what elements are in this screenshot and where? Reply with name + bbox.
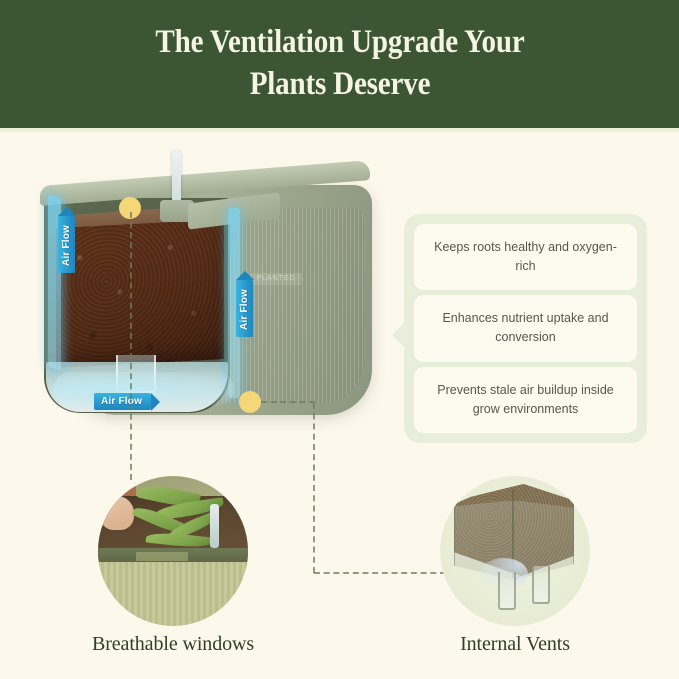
airflow-label-middle: Air Flow: [236, 280, 253, 337]
airflow-label-left-text: Air Flow: [58, 216, 75, 273]
header-banner: The Ventilation Upgrade Your Plants Dese…: [0, 0, 679, 128]
soil-cross-section: [56, 219, 224, 368]
inset-left-planter-body: [98, 562, 248, 626]
inset-photo-breathable-windows: [98, 476, 248, 626]
connector-line-breathable-windows: [130, 212, 132, 480]
inset-caption-breathable-windows: Breathable windows: [43, 633, 303, 656]
planter-brand-logo: PLANTED: [250, 273, 302, 285]
internal-vent-leg: [498, 572, 516, 610]
connector-line-vents-horizontal-bottom: [314, 572, 446, 574]
connector-line-vents-vertical: [313, 403, 315, 573]
connector-line-vents-horizontal-top: [261, 401, 315, 403]
product-cutaway-illustration: PLANTED Air Flow Air Flow Air Flow: [20, 150, 400, 450]
airflow-label-middle-text: Air Flow: [236, 280, 253, 337]
inset-left-terracotta-pot: [100, 496, 134, 530]
benefits-panel: Keeps roots healthy and oxygen-rich Enha…: [404, 214, 647, 443]
airflow-label-left: Air Flow: [58, 216, 75, 273]
benefit-card-3: Prevents stale air buildup inside grow e…: [414, 367, 637, 433]
airflow-label-bottom: Air Flow: [94, 393, 151, 410]
header-underline: [0, 128, 679, 132]
benefit-card-2: Enhances nutrient uptake and conversion: [414, 295, 637, 361]
infographic-page: The Ventilation Upgrade Your Plants Dese…: [0, 0, 679, 679]
inset-caption-internal-vents: Internal Vents: [385, 633, 645, 656]
inset-left-water-gauge: [210, 504, 219, 548]
benefit-card-1: Keeps roots healthy and oxygen-rich: [414, 224, 637, 290]
airflow-label-bottom-text: Air Flow: [94, 393, 151, 410]
inset-photo-internal-vents: [440, 476, 590, 626]
internal-vent-leg: [532, 566, 550, 604]
hotspot-internal-vents[interactable]: [239, 391, 261, 413]
breathable-window-detail: [136, 552, 188, 561]
page-title: The Ventilation Upgrade Your Plants Dese…: [128, 22, 550, 105]
benefits-panel-pointer-icon: [392, 322, 405, 348]
